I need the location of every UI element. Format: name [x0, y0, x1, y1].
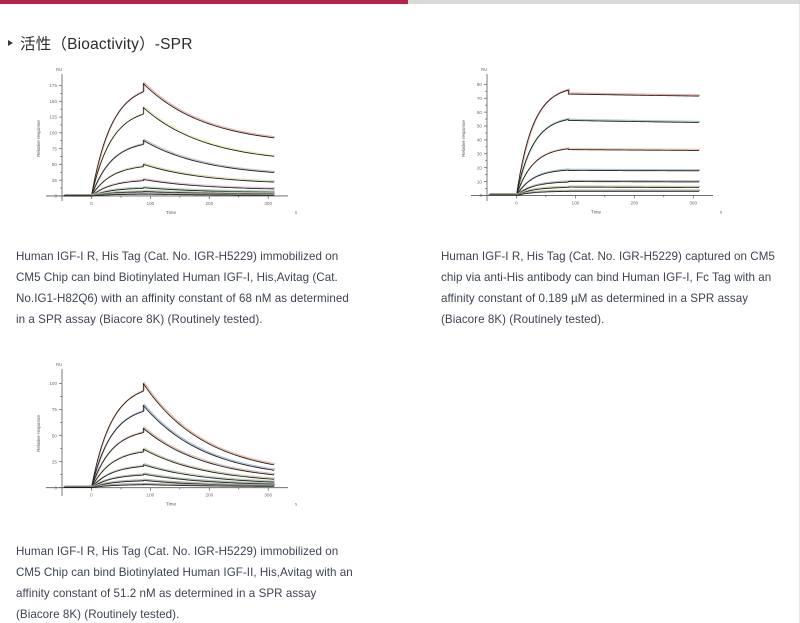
- progress-bar-track: [0, 0, 800, 4]
- svg-text:300: 300: [264, 493, 272, 498]
- svg-text:200: 200: [205, 493, 213, 498]
- figure-block-1: 02550751001251501750100200300RUTimesRela…: [16, 62, 361, 330]
- svg-text:Relative response: Relative response: [461, 120, 466, 157]
- svg-text:70: 70: [477, 96, 483, 101]
- section-heading: 活性（Bioactivity）-SPR: [8, 32, 193, 54]
- svg-text:50: 50: [52, 433, 58, 438]
- svg-text:200: 200: [630, 200, 638, 205]
- svg-text:RU: RU: [481, 67, 487, 72]
- svg-text:0: 0: [515, 200, 518, 205]
- svg-text:s: s: [295, 502, 298, 507]
- figure-block-2: 010203040506070800100200300RUTimesRelati…: [441, 62, 786, 330]
- svg-text:25: 25: [52, 459, 58, 464]
- svg-text:75: 75: [52, 407, 58, 412]
- svg-text:0: 0: [90, 493, 93, 498]
- svg-text:20: 20: [477, 165, 483, 170]
- svg-text:80: 80: [477, 82, 483, 87]
- svg-text:Time: Time: [591, 209, 601, 214]
- svg-text:Relative response: Relative response: [36, 415, 41, 452]
- page-root: 活性（Bioactivity）-SPR 02550751001251501750…: [0, 0, 800, 623]
- svg-text:75: 75: [52, 146, 58, 151]
- section-heading-label: 活性（Bioactivity）-SPR: [20, 32, 193, 54]
- svg-text:50: 50: [52, 162, 58, 167]
- spr-sensorgram-3: 02550751000100200300RUTimesRelative resp…: [16, 357, 306, 527]
- svg-text:RU: RU: [56, 362, 62, 367]
- svg-text:50: 50: [477, 124, 483, 129]
- svg-text:0: 0: [479, 193, 482, 198]
- figure-caption-2: Human IGF-I R, His Tag (Cat. No. IGR-H52…: [441, 246, 786, 330]
- spr-sensorgram-1: 02550751001251501750100200300RUTimesRela…: [16, 62, 306, 232]
- figure-caption-1: Human IGF-I R, His Tag (Cat. No. IGR-H52…: [16, 246, 361, 330]
- svg-text:100: 100: [147, 493, 155, 498]
- svg-text:200: 200: [205, 201, 213, 206]
- progress-bar-fill: [0, 0, 408, 4]
- svg-text:0: 0: [90, 201, 93, 206]
- svg-text:RU: RU: [56, 67, 62, 72]
- svg-text:Time: Time: [166, 502, 176, 507]
- svg-text:100: 100: [572, 200, 580, 205]
- chart-svg-2: 010203040506070800100200300RUTimesRelati…: [441, 62, 731, 232]
- svg-text:s: s: [720, 209, 723, 214]
- figure-block-3: 02550751000100200300RUTimesRelative resp…: [16, 357, 361, 623]
- svg-text:60: 60: [477, 110, 483, 115]
- svg-text:300: 300: [264, 201, 272, 206]
- svg-text:s: s: [295, 210, 298, 215]
- svg-text:10: 10: [477, 179, 483, 184]
- svg-text:0: 0: [54, 485, 57, 490]
- svg-text:150: 150: [49, 99, 57, 104]
- svg-text:30: 30: [477, 151, 483, 156]
- svg-text:Relative response: Relative response: [36, 120, 41, 157]
- spr-sensorgram-2: 010203040506070800100200300RUTimesRelati…: [441, 62, 731, 232]
- chart-svg-1: 02550751001251501750100200300RUTimesRela…: [16, 62, 306, 232]
- svg-text:25: 25: [52, 178, 58, 183]
- figure-caption-3: Human IGF-I R, His Tag (Cat. No. IGR-H52…: [16, 541, 361, 623]
- triangle-right-icon: [8, 40, 13, 46]
- svg-text:100: 100: [147, 201, 155, 206]
- svg-text:100: 100: [49, 381, 57, 386]
- svg-text:100: 100: [49, 131, 57, 136]
- svg-text:300: 300: [689, 200, 697, 205]
- svg-text:175: 175: [49, 83, 57, 88]
- svg-text:40: 40: [477, 138, 483, 143]
- svg-text:0: 0: [54, 194, 57, 199]
- svg-text:125: 125: [49, 115, 57, 120]
- svg-text:Time: Time: [166, 210, 176, 215]
- chart-svg-3: 02550751000100200300RUTimesRelative resp…: [16, 357, 306, 527]
